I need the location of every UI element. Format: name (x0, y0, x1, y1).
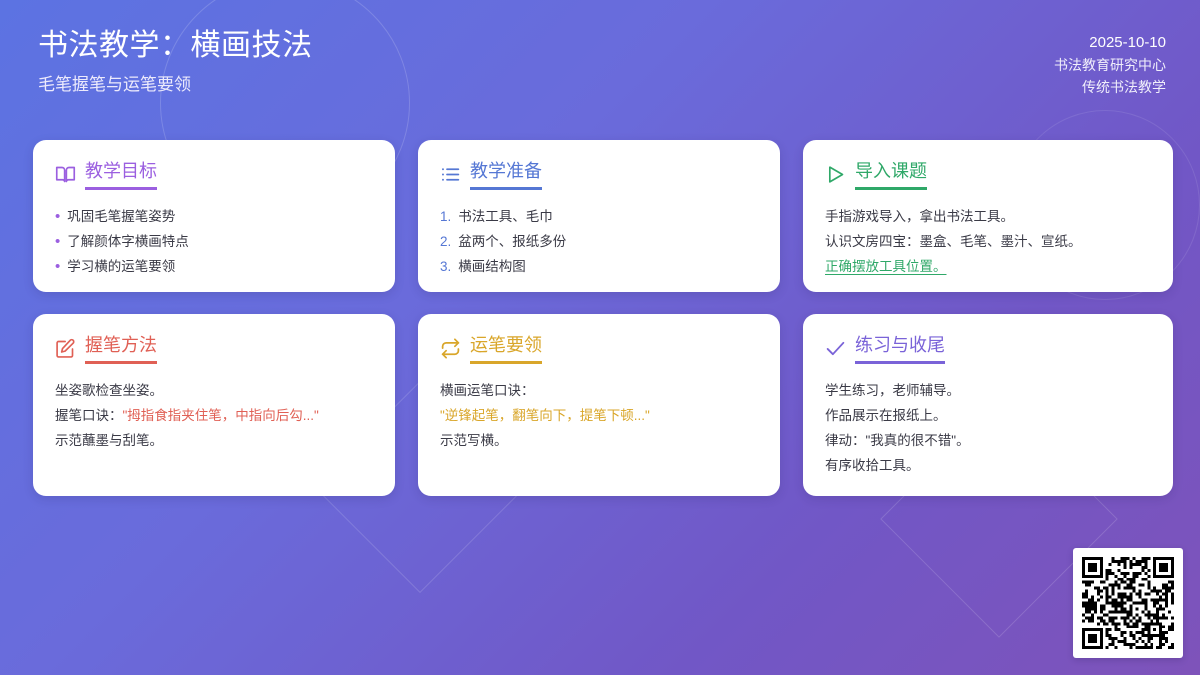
card-body: 手指游戏导入，拿出书法工具。认识文房四宝：墨盒、毛笔、墨汁、宣纸。正确摆放工具位… (825, 204, 1151, 279)
line-text: 横画运笔口诀： (440, 383, 535, 398)
card-line: 横画运笔口诀： (440, 378, 758, 403)
meta-date: 2025-10-10 (1054, 32, 1166, 54)
card-body: 坐姿歌检查坐姿。握笔口诀："拇指食指夹住笔，中指向后勾..."示范蘸墨与刮笔。 (55, 378, 373, 453)
line-text: 手指游戏导入，拿出书法工具。 (825, 209, 1014, 224)
card-line: 手指游戏导入，拿出书法工具。 (825, 204, 1151, 229)
edit-icon (55, 338, 76, 359)
card-line: 认识文房四宝：墨盒、毛笔、墨汁、宣纸。 (825, 229, 1151, 254)
header-titles: 书法教学：横画技法 毛笔握笔与运笔要领 (38, 26, 313, 98)
line-text: 学习横的运笔要领 (67, 254, 175, 279)
card-teaching-goals: 教学目标•巩固毛笔握笔姿势•了解颜体字横画特点•学习横的运笔要领 (33, 140, 395, 292)
card-header: 教学准备 (440, 159, 758, 190)
meta-organization: 书法教育研究中心 (1054, 54, 1166, 76)
line-text: 盆两个、报纸多份 (458, 229, 566, 254)
card-line: •学习横的运笔要领 (55, 254, 373, 279)
card-practice-wrapup: 练习与收尾学生练习，老师辅导。作品展示在报纸上。律动："我真的很不错"。有序收拾… (803, 314, 1173, 496)
line-text: 了解颜体字横画特点 (67, 229, 189, 254)
line-text: 认识文房四宝：墨盒、毛笔、墨汁、宣纸。 (825, 234, 1082, 249)
card-line: 示范蘸墨与刮笔。 (55, 428, 373, 453)
bullet-marker: • (55, 254, 60, 279)
card-intro-topic: 导入课题手指游戏导入，拿出书法工具。认识文房四宝：墨盒、毛笔、墨汁、宣纸。正确摆… (803, 140, 1173, 292)
card-header: 运笔要领 (440, 333, 758, 364)
card-title: 教学准备 (470, 159, 542, 190)
check-icon (825, 338, 846, 359)
line-prefix: 握笔口诀： (55, 408, 123, 423)
line-text: 正确摆放工具位置。 (825, 259, 947, 274)
card-title: 练习与收尾 (855, 333, 945, 364)
line-text: 律动："我真的很不错"。 (825, 433, 970, 448)
card-body: 横画运笔口诀："逆锋起笔，翻笔向下，提笔下顿..."示范写横。 (440, 378, 758, 453)
card-line: 学生练习，老师辅导。 (825, 378, 1151, 403)
card-header: 导入课题 (825, 159, 1151, 190)
card-line: "逆锋起笔，翻笔向下，提笔下顿..." (440, 403, 758, 428)
list-number: 3. (440, 254, 451, 279)
card-brush-grip: 握笔方法坐姿歌检查坐姿。握笔口诀："拇指食指夹住笔，中指向后勾..."示范蘸墨与… (33, 314, 395, 496)
highlighted-quote: "逆锋起笔，翻笔向下，提笔下顿..." (440, 408, 650, 423)
card-header: 教学目标 (55, 159, 373, 190)
meta-category: 传统书法教学 (1054, 76, 1166, 98)
card-grid: 教学目标•巩固毛笔握笔姿势•了解颜体字横画特点•学习横的运笔要领教学准备1.书法… (33, 140, 1173, 496)
repeat-icon (440, 338, 461, 359)
card-body: 学生练习，老师辅导。作品展示在报纸上。律动："我真的很不错"。有序收拾工具。 (825, 378, 1151, 478)
card-title: 握笔方法 (85, 333, 157, 364)
card-line: 作品展示在报纸上。 (825, 403, 1151, 428)
book-icon (55, 164, 76, 185)
card-line: 正确摆放工具位置。 (825, 254, 1151, 279)
line-text: 示范写横。 (440, 433, 508, 448)
qr-code (1082, 557, 1174, 649)
card-stroke-essentials: 运笔要领横画运笔口诀："逆锋起笔，翻笔向下，提笔下顿..."示范写横。 (418, 314, 780, 496)
bullet-marker: • (55, 204, 60, 229)
card-line: •了解颜体字横画特点 (55, 229, 373, 254)
line-text: 巩固毛笔握笔姿势 (67, 204, 175, 229)
card-header: 握笔方法 (55, 333, 373, 364)
card-line: 坐姿歌检查坐姿。 (55, 378, 373, 403)
line-text: 坐姿歌检查坐姿。 (55, 383, 163, 398)
card-line: 有序收拾工具。 (825, 453, 1151, 478)
header: 书法教学：横画技法 毛笔握笔与运笔要领 2025-10-10 书法教育研究中心 … (0, 0, 1200, 126)
card-line: 2.盆两个、报纸多份 (440, 229, 758, 254)
header-meta: 2025-10-10 书法教育研究中心 传统书法教学 (1054, 32, 1166, 98)
card-line: 3.横画结构图 (440, 254, 758, 279)
line-text: 横画结构图 (458, 254, 526, 279)
card-body: 1.书法工具、毛巾2.盆两个、报纸多份3.横画结构图 (440, 204, 758, 279)
card-teaching-prep: 教学准备1.书法工具、毛巾2.盆两个、报纸多份3.横画结构图 (418, 140, 780, 292)
card-title: 运笔要领 (470, 333, 542, 364)
card-line: 示范写横。 (440, 428, 758, 453)
line-text: 作品展示在报纸上。 (825, 408, 947, 423)
card-title: 教学目标 (85, 159, 157, 190)
card-line: 律动："我真的很不错"。 (825, 428, 1151, 453)
qr-code-container[interactable] (1073, 548, 1183, 658)
highlighted-quote: "拇指食指夹住笔，中指向后勾..." (123, 408, 319, 423)
play-icon (825, 164, 846, 185)
card-line: 握笔口诀："拇指食指夹住笔，中指向后勾..." (55, 403, 373, 428)
list-icon (440, 164, 461, 185)
list-number: 2. (440, 229, 451, 254)
list-number: 1. (440, 204, 451, 229)
card-body: •巩固毛笔握笔姿势•了解颜体字横画特点•学习横的运笔要领 (55, 204, 373, 279)
line-text: 有序收拾工具。 (825, 458, 920, 473)
card-line: •巩固毛笔握笔姿势 (55, 204, 373, 229)
bullet-marker: • (55, 229, 60, 254)
line-text: 书法工具、毛巾 (458, 204, 553, 229)
card-line: 1.书法工具、毛巾 (440, 204, 758, 229)
card-header: 练习与收尾 (825, 333, 1151, 364)
page-title: 书法教学：横画技法 (38, 26, 313, 66)
line-text: 学生练习，老师辅导。 (825, 383, 960, 398)
card-title: 导入课题 (855, 159, 927, 190)
page-subtitle: 毛笔握笔与运笔要领 (38, 72, 313, 98)
line-text: 示范蘸墨与刮笔。 (55, 433, 163, 448)
